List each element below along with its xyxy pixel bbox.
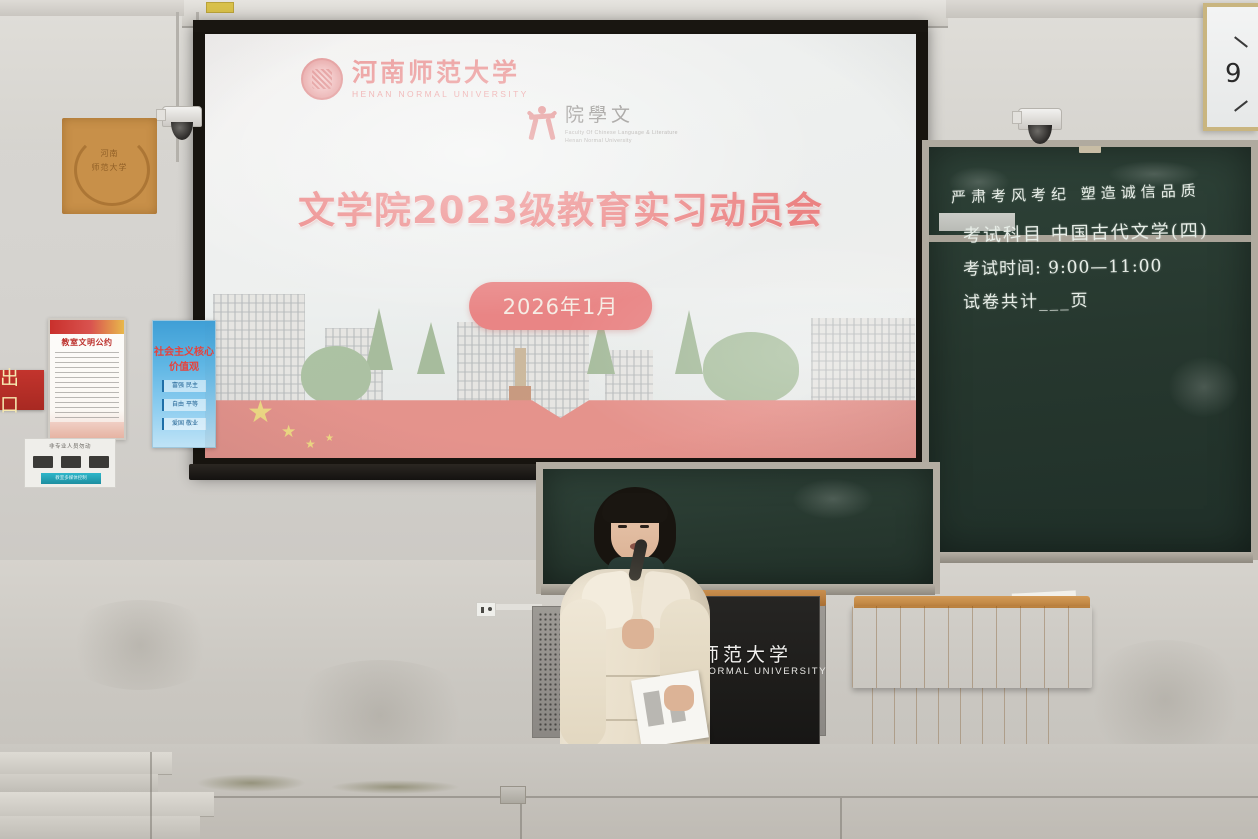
university-name-en: HENAN NORMAL UNIVERSITY [352, 89, 529, 99]
chalk-exam-subject: 考试科目 中国古代文学(四) [963, 216, 1209, 247]
light-switch[interactable] [89, 456, 109, 468]
switch-panel-strip-label: 教室多媒体控制 [41, 473, 101, 484]
poster-core-values: 社会主义核心价值观 富强 民主 自由 平等 爱国 敬业 [152, 320, 216, 448]
chalk-smudge [1169, 357, 1239, 417]
platform-step-riser [0, 774, 158, 792]
lectern-carved-emblem: 河南 师范大学 [62, 118, 157, 214]
chalk-exam-time: 考试时间: 9:00—11:00 [963, 251, 1163, 279]
poster-blue-title: 社会主义核心价值观 [153, 343, 215, 373]
light-switch[interactable] [33, 456, 53, 468]
clock-number: 9 [1225, 59, 1242, 89]
presenter-hand-lower [664, 685, 694, 711]
poster-value-chip: 自由 平等 [162, 399, 206, 411]
projection-screen[interactable]: ★ ★ ★ ★ 河南师范大学 HENAN NORMAL UNIVERSITY [193, 20, 928, 474]
floor-seam [520, 798, 522, 839]
light-switch-panel[interactable]: 非专业人员勿动 教室多媒体控制 [24, 438, 116, 488]
presenter-eye [618, 525, 627, 528]
faculty-name-en-1: Faculty Of Chinese Language & Literature [565, 130, 678, 138]
floor-cable-box[interactable] [500, 786, 526, 804]
clock-tick [1234, 36, 1248, 47]
emblem-text-line2: 师范大学 [62, 162, 157, 173]
presenter-hand-upper [622, 619, 654, 649]
faculty-name-cn: 院學文 [565, 100, 678, 127]
campus-tree [675, 310, 703, 374]
ceiling-trim-left [0, 0, 184, 16]
clock-tick [1234, 100, 1248, 111]
campus-tree [703, 332, 799, 404]
platform-step [0, 752, 172, 775]
flag-star: ★ [281, 423, 296, 440]
handout-image-block [643, 690, 664, 726]
emblem-text-line1: 河南 [62, 148, 157, 159]
switch-panel-label: 非专业人员勿动 [25, 442, 115, 450]
university-name-cn: 河南师范大学 [352, 60, 529, 85]
chalk-smudge [793, 479, 873, 519]
blackboard-clip [1079, 146, 1101, 153]
lectern-skirt [852, 606, 1092, 688]
chalk-exam-pages: 试卷共计___页 [963, 286, 1090, 313]
slide-title: 文学院2023级教育实习动员会 [205, 180, 916, 234]
presenter-arm-left [560, 599, 606, 749]
faculty-logo: 院學文 Faculty Of Chinese Language & Litera… [527, 100, 678, 146]
campus-tree [365, 308, 393, 370]
poster-value-chip: 爱国 敬业 [162, 418, 206, 430]
flag-star: ★ [325, 434, 334, 444]
poster-value-chip: 富强 民主 [162, 380, 206, 392]
camera-mount-arm [1012, 111, 1022, 124]
classroom-lecture-scene: ★ ★ ★ ★ 河南师范大学 HENAN NORMAL UNIVERSITY [0, 0, 1258, 839]
floor-seam [840, 798, 842, 839]
floor-seam [150, 752, 152, 839]
floor-debris [196, 774, 306, 792]
floor-debris [330, 780, 460, 794]
wall-power-outlet[interactable] [476, 602, 496, 617]
chalk-slogan: 严肃考风考纪 塑造诚信品质 [951, 180, 1201, 208]
campus-statue [515, 348, 526, 388]
floor-seam [214, 796, 1258, 798]
slide-date-badge: 2026年1月 [469, 282, 653, 330]
chalk-tray [927, 552, 1253, 563]
poster-body-text [55, 352, 119, 422]
camera-mount-arm [156, 109, 166, 121]
poster-footer-band [50, 422, 124, 438]
lecture-platform [0, 744, 1258, 839]
camera-dome-lens [171, 122, 193, 140]
housing-label-tag [206, 2, 234, 13]
wall-clock: 9 [1203, 3, 1258, 131]
poster-rules-title: 教室文明公约 [50, 337, 124, 348]
dome-camera-icon-left [162, 106, 202, 142]
platform-step-riser [0, 816, 200, 839]
campus-building [213, 294, 305, 412]
camera-dome-lens [1028, 125, 1053, 144]
poster-header-band [50, 320, 124, 334]
university-seal-icon [301, 58, 343, 100]
presenter-fringe [602, 493, 668, 523]
flag-star: ★ [305, 438, 316, 450]
exit-sign: 出口 [0, 370, 44, 410]
presenter-eye [640, 525, 649, 528]
light-switch[interactable] [61, 456, 81, 468]
campus-tree [417, 322, 445, 374]
blackboard-right: 严肃考风考纪 塑造诚信品质 考试科目 中国古代文学(四) 考试时间: 9:00—… [922, 140, 1258, 560]
presentation-slide[interactable]: ★ ★ ★ ★ 河南师范大学 HENAN NORMAL UNIVERSITY [205, 34, 916, 458]
screen-top-frame [193, 20, 928, 32]
podium-brand-en: NORMAL UNIVERSITY [700, 666, 827, 677]
campus-tree [301, 346, 371, 404]
university-logo: 河南师范大学 HENAN NORMAL UNIVERSITY [301, 58, 529, 100]
poster-classroom-rules: 教室文明公约 [48, 318, 126, 440]
faculty-name-en-2: Henan Normal University [565, 138, 678, 146]
flag-star: ★ [247, 398, 274, 428]
faculty-mark-icon [527, 106, 557, 140]
dome-camera-icon-right [1018, 108, 1062, 146]
platform-step [0, 792, 214, 817]
